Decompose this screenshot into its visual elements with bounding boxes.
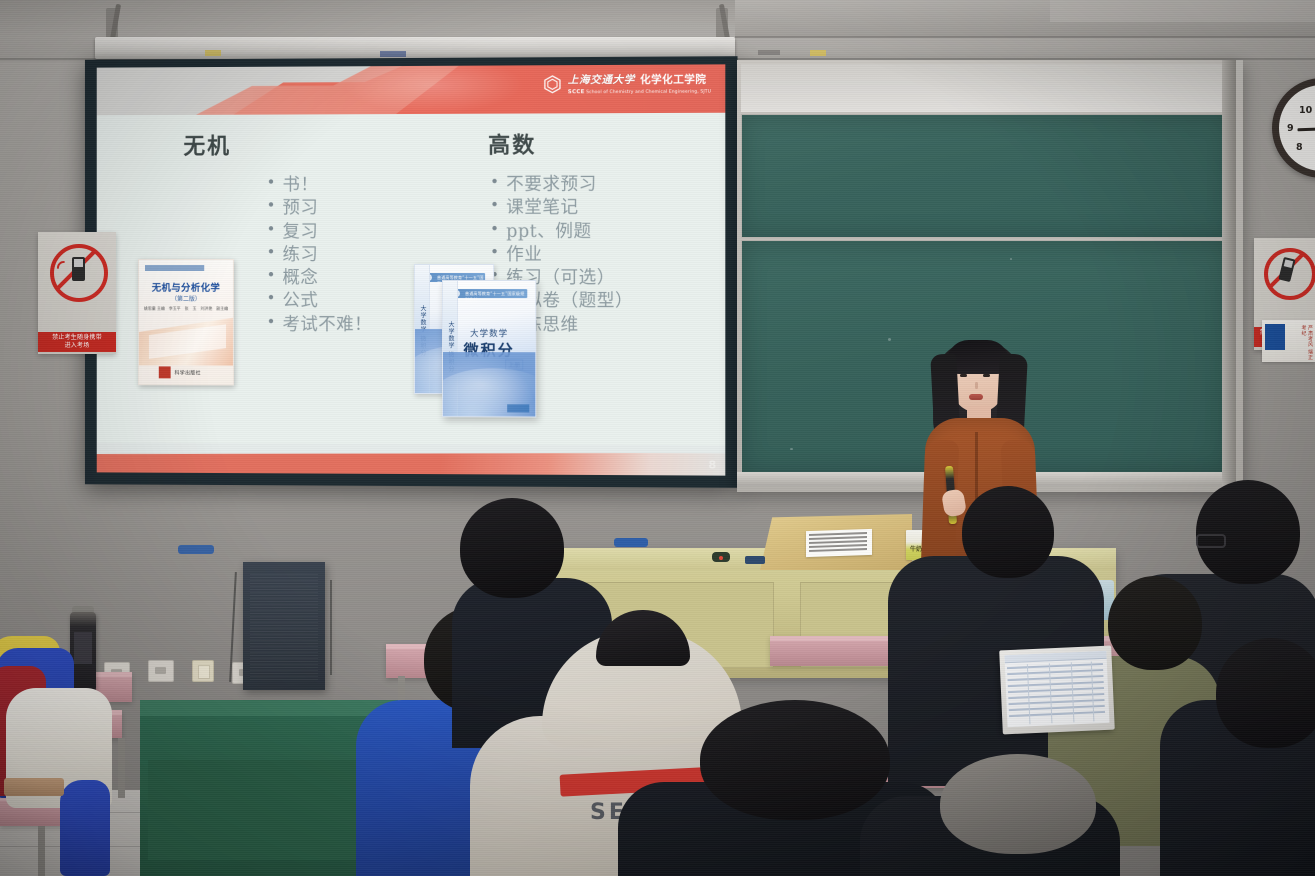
list-item: 预习 (267, 197, 454, 221)
spreadsheet-row (1009, 705, 1105, 711)
book-series-band (145, 265, 204, 271)
remote-indicator-led (719, 556, 723, 560)
logo-college-name: 化学化工学院 (640, 71, 706, 86)
slide-footer-band: 8 (97, 443, 726, 476)
book-authors-inorganic: 姚思童 主编 李玉平 张 玉 刘洪艳 副主编 (139, 306, 233, 312)
roller-tab-left (205, 50, 221, 56)
book-series-calculus: 普通高等教育“十一五”国家级规划教材 (465, 291, 527, 303)
list-item: 作业 (490, 244, 725, 267)
paper-line (809, 544, 867, 548)
column-title-calculus: 高数 (488, 127, 725, 160)
lecturer-nose (975, 382, 978, 389)
no-phone-sign-left: 禁止考生随身携带 进入考场 (38, 232, 116, 354)
sjtu-emblem-icon (543, 74, 563, 94)
phone-screen (1284, 259, 1293, 268)
desk-leg (38, 826, 45, 876)
paper-line (809, 532, 867, 536)
sign-line-1: 禁止考生随身携带 (38, 334, 116, 342)
sign-line-2: 进入考场 (38, 342, 116, 350)
speaker-cable-secondary (330, 580, 332, 675)
clock-number: 9 (1287, 123, 1294, 134)
book-publisher-block: 科学出版社 (159, 366, 201, 378)
poster-emblem-icon (1265, 324, 1285, 350)
chalk-speck (888, 338, 891, 341)
lecturer-eye (960, 374, 967, 377)
book-cover-calculus-front: 普通高等教育“十一五”国家级规划教材 大学数学 微积分 大学数学 微积分 上册 (442, 280, 536, 417)
list-item: 不要求预习 (490, 173, 725, 197)
book-title-inorganic: 无机与分析化学 (139, 280, 233, 294)
book-edition-inorganic: （第二版） (139, 294, 233, 303)
laptop-screen (1004, 651, 1109, 727)
slide-body: 无机 书！ 预习 复习 练习 概念 公式 考试不难！ 高数 不要求 (97, 113, 726, 446)
blackboard-top-white-strip (741, 64, 1231, 112)
exam-discipline-poster: 严肃考风 端正考纪 (1262, 320, 1315, 362)
spreadsheet-row (1009, 699, 1105, 705)
slide-footer-red-shape (97, 451, 726, 476)
student-head (460, 498, 564, 598)
student-head (700, 700, 890, 820)
water-bottle-label (74, 632, 92, 664)
publisher-logo-icon (159, 366, 171, 378)
spreadsheet-row (1009, 711, 1105, 717)
chalk-box (178, 545, 214, 554)
logo-text-block: 上海交通大学 化学化工学院 SCCE School of Chemistry a… (568, 71, 711, 94)
lectern-schedule-paper (806, 529, 872, 557)
chalk-speck (790, 448, 793, 450)
student-hat (940, 754, 1096, 854)
clock-number: 10 (1299, 105, 1312, 116)
list-item: 课堂笔记 (490, 197, 725, 221)
student-head (1216, 638, 1315, 748)
jacket-blue-lower (60, 780, 110, 876)
presentation-slide: 上海交通大学 化学化工学院 SCCE School of Chemistry a… (97, 64, 726, 475)
logo-english-name: School of Chemistry and Chemical Enginee… (586, 89, 711, 95)
spreadsheet-row (1008, 693, 1104, 699)
paper-line (809, 540, 867, 544)
desk-leg (118, 738, 125, 798)
list-item: 书！ (267, 174, 454, 198)
spreadsheet-row (1007, 669, 1103, 675)
lecture-hall-photo: 上海交通大学 化学化工学院 SCCE School of Chemistry a… (0, 0, 1315, 876)
lecturer-mouth (969, 394, 983, 400)
projector-glare (344, 65, 524, 114)
phone-screen (74, 259, 83, 267)
wall-light-switch[interactable] (192, 660, 214, 682)
student-head (1108, 576, 1202, 670)
chalk-box (745, 556, 765, 564)
speaker-grille (250, 572, 318, 680)
book-publisher-calculus (507, 404, 529, 412)
chair-back (4, 778, 64, 796)
spreadsheet-row (1007, 663, 1103, 669)
list-item: 复习 (267, 220, 454, 243)
projector-screen-roller[interactable] (95, 37, 735, 59)
clock-hour-hand (1297, 128, 1315, 132)
sjtu-scce-logo: 上海交通大学 化学化工学院 SCCE School of Chemistry a… (543, 71, 711, 94)
poster-line-1: 严肃考风 (1307, 325, 1313, 347)
blackboard-panel-upper[interactable] (741, 114, 1231, 238)
roller-tab-right (810, 50, 826, 56)
chalk-speck (1010, 258, 1012, 260)
student-laptop[interactable] (999, 646, 1115, 735)
logo-university-name: 上海交通大学 (568, 72, 635, 87)
sign-warning-text-left: 禁止考生随身携带 进入考场 (38, 332, 116, 352)
logo-acronym: SCCE (568, 89, 585, 95)
column-title-inorganic: 无机 (183, 128, 454, 161)
blackboard-right-edge (1222, 60, 1236, 486)
student-head (962, 486, 1054, 578)
slide-header-band: 上海交通大学 化学化工学院 SCCE School of Chemistry a… (97, 64, 726, 115)
student-head (1196, 480, 1300, 584)
paper-line (809, 536, 867, 540)
logo-chinese-row: 上海交通大学 化学化工学院 (568, 71, 711, 87)
projection-screen[interactable]: 上海交通大学 化学化工学院 SCCE School of Chemistry a… (85, 56, 738, 488)
ceiling-beam-secondary (1050, 0, 1315, 22)
roller-brand-text (758, 50, 780, 55)
book-series-band-front: 普通高等教育“十一五”国家级规划教材 (451, 289, 527, 298)
list-item: ppt、例题 (490, 220, 725, 244)
paper-line (809, 548, 867, 552)
book-cover-inorganic-chemistry: 无机与分析化学 （第二版） 姚思童 主编 李玉平 张 玉 刘洪艳 副主编 科学出… (138, 259, 234, 385)
glasses-icon (1196, 534, 1226, 548)
book-title-top-calculus: 大学数学 (443, 327, 535, 339)
roller-brand-mark (380, 51, 406, 57)
book-publisher-inorganic: 科学出版社 (175, 369, 201, 376)
spreadsheet-row (1008, 681, 1104, 687)
spreadsheet-row (1008, 687, 1104, 693)
wall-outlet[interactable] (148, 660, 174, 682)
poster-text: 严肃考风 端正考纪 (1300, 325, 1313, 362)
lecturer-eye (983, 374, 990, 377)
chalk-box (614, 538, 648, 547)
logo-english-line: SCCE School of Chemistry and Chemical En… (568, 88, 711, 95)
spreadsheet-row (1007, 675, 1103, 681)
slide-page-number: 8 (708, 458, 716, 471)
clock-number: 8 (1296, 142, 1303, 153)
